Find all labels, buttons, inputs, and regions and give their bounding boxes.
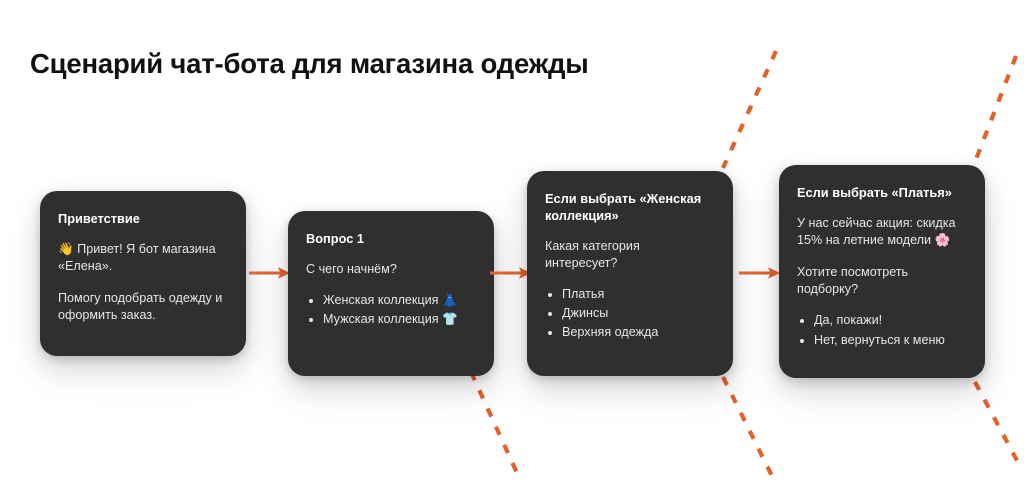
card-option[interactable]: Да, покажи! [814, 311, 967, 330]
card-women-collection[interactable]: Если выбрать «Женская коллекция» Какая к… [527, 171, 733, 376]
dotted-line-bottom-left [471, 372, 517, 473]
card-title: Если выбрать «Платья» [797, 185, 967, 202]
card-question-1[interactable]: Вопрос 1 С чего начнём? Женская коллекци… [288, 211, 494, 376]
card-paragraph: Хотите посмотреть подборку? [797, 264, 967, 298]
card-title: Приветствие [58, 211, 228, 228]
card-option[interactable]: Платья [562, 285, 715, 304]
card-greeting[interactable]: Приветствие 👋 Привет! Я бот магазина «Ел… [40, 191, 246, 356]
card-paragraph: 👋 Привет! Я бот магазина «Елена». [58, 241, 228, 275]
card-title: Вопрос 1 [306, 231, 476, 248]
connector-arrow-3 [739, 266, 781, 280]
dotted-line-top-right [975, 56, 1016, 162]
slide-canvas: Сценарий чат-бота для магазина одежды Пр… [0, 0, 1024, 482]
card-option-list: Да, покажи! Нет, вернуться к меню [797, 311, 967, 349]
connector-arrow-2 [490, 266, 532, 280]
card-option-list: Платья Джинсы Верхняя одежда [545, 285, 715, 342]
card-option[interactable]: Верхняя одежда [562, 323, 715, 342]
connector-arrow-1 [249, 266, 291, 280]
card-dresses[interactable]: Если выбрать «Платья» У нас сейчас акция… [779, 165, 985, 378]
card-paragraph: Какая категория интересует? [545, 238, 715, 272]
card-option[interactable]: Нет, вернуться к меню [814, 331, 967, 350]
card-paragraph: У нас сейчас акция: скидка 15% на летние… [797, 215, 967, 249]
dotted-line-top-left [723, 51, 776, 168]
card-option[interactable]: Джинсы [562, 304, 715, 323]
dotted-line-bottom-center [723, 377, 774, 480]
card-title: Если выбрать «Женская коллекция» [545, 191, 715, 225]
card-option[interactable]: Мужская коллекция 👕 [323, 310, 476, 329]
card-paragraph: Помогу подобрать одежду и оформить заказ… [58, 290, 228, 324]
card-paragraph: С чего начнём? [306, 261, 476, 278]
page-title: Сценарий чат-бота для магазина одежды [30, 48, 589, 80]
card-option-list: Женская коллекция 👗 Мужская коллекция 👕 [306, 291, 476, 329]
dotted-line-bottom-right [975, 382, 1021, 468]
card-option[interactable]: Женская коллекция 👗 [323, 291, 476, 310]
